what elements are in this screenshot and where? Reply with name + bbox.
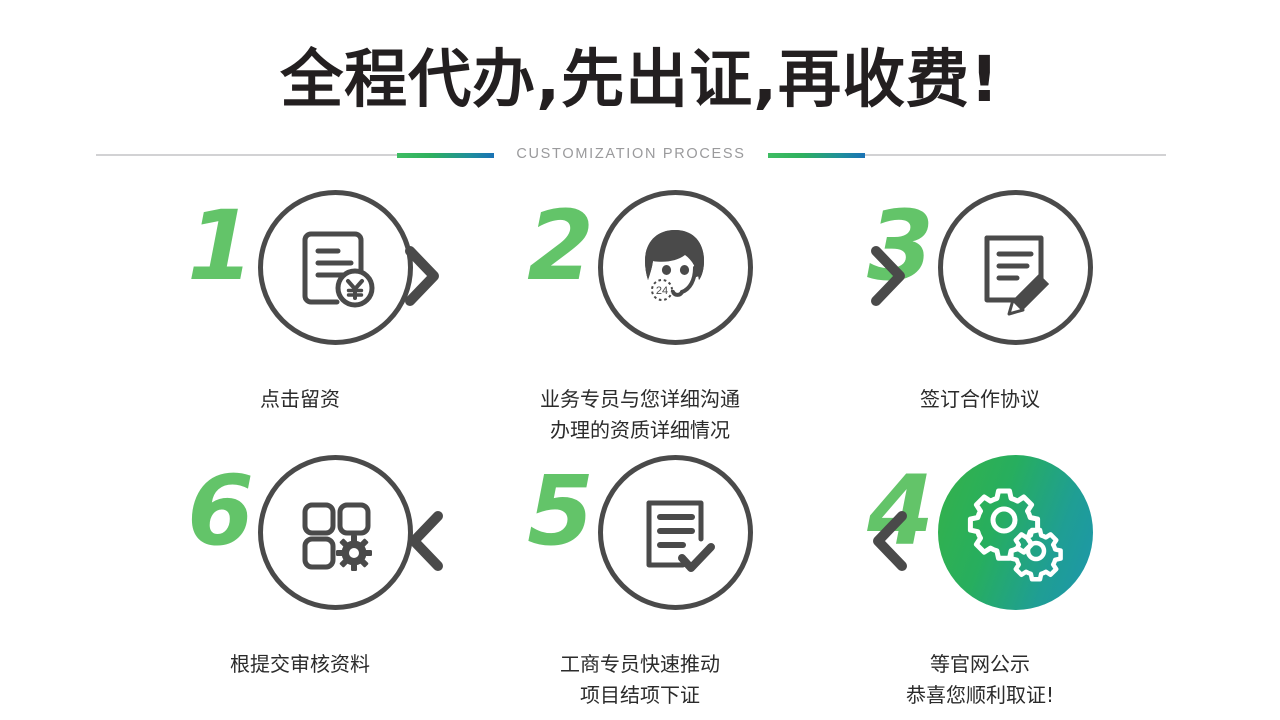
section-divider: CUSTOMIZATION PROCESS (96, 153, 1166, 157)
step-1-label: 点击留资 (260, 384, 340, 415)
arrow-step5-to-step6 (396, 503, 456, 579)
step-4-label: 等官网公示 恭喜您顺利取证! (906, 649, 1054, 711)
arrow-step1-to-step2 (392, 238, 452, 314)
chevron-left-icon (404, 510, 448, 572)
step-5-number: 5 (527, 463, 592, 559)
gears-icon (962, 480, 1068, 586)
divider-line-right (865, 154, 1166, 156)
document-yen-icon (285, 218, 385, 318)
steps-row-bottom: 6 (0, 455, 1280, 720)
step-5-label: 工商专员快速推动 项目结项下证 (560, 649, 720, 711)
step-6-visual: 6 (187, 455, 413, 645)
process-infographic: 全程代办,先出证,再收费! CUSTOMIZATION PROCESS 1 (0, 0, 1280, 720)
step-6-number: 6 (187, 463, 252, 559)
steps-container: 1 (0, 190, 1280, 720)
divider-gradient-left (397, 153, 494, 158)
step-item-4[interactable]: 4 等官网公示 (810, 455, 1150, 711)
chevron-right-icon (866, 245, 910, 307)
grid-gear-icon (285, 483, 385, 583)
step-2-icon-circle: 24 (598, 190, 753, 345)
step-2-label: 业务专员与您详细沟通 办理的资质详细情况 (540, 384, 740, 446)
step-1-visual: 1 (187, 190, 413, 380)
step-5-visual: 5 (527, 455, 753, 645)
document-check-icon (625, 483, 725, 583)
step-6-icon-circle (258, 455, 413, 610)
step-2-visual: 2 24 (527, 190, 753, 380)
step-4-icon-circle (938, 455, 1093, 610)
step-3-icon-circle (938, 190, 1093, 345)
headset-agent-24-icon: 24 (623, 216, 727, 320)
chevron-left-icon (868, 510, 912, 572)
divider-gradient-right (768, 153, 865, 158)
divider-line-left (96, 154, 397, 156)
steps-row-top: 1 (0, 190, 1280, 455)
step-5-icon-circle (598, 455, 753, 610)
step-3-label: 签订合作协议 (920, 384, 1040, 415)
step-2-number: 2 (527, 198, 592, 294)
step-1-icon-circle (258, 190, 413, 345)
step-item-2[interactable]: 2 24 (470, 190, 810, 446)
arrow-step2-to-step3 (858, 238, 918, 314)
page-title: 全程代办,先出证,再收费! (0, 44, 1280, 116)
support-hours-badge: 24 (656, 285, 668, 297)
subtitle: CUSTOMIZATION PROCESS (494, 146, 767, 162)
step-item-5[interactable]: 5 工商专员快速推动 项目结项下证 (470, 455, 810, 711)
chevron-right-icon (400, 245, 444, 307)
step-1-number: 1 (187, 198, 252, 294)
arrow-step4-to-step5 (860, 503, 920, 579)
header: 全程代办,先出证,再收费! (0, 44, 1280, 116)
step-6-label: 根提交审核资料 (230, 649, 370, 680)
document-pencil-icon (965, 218, 1065, 318)
